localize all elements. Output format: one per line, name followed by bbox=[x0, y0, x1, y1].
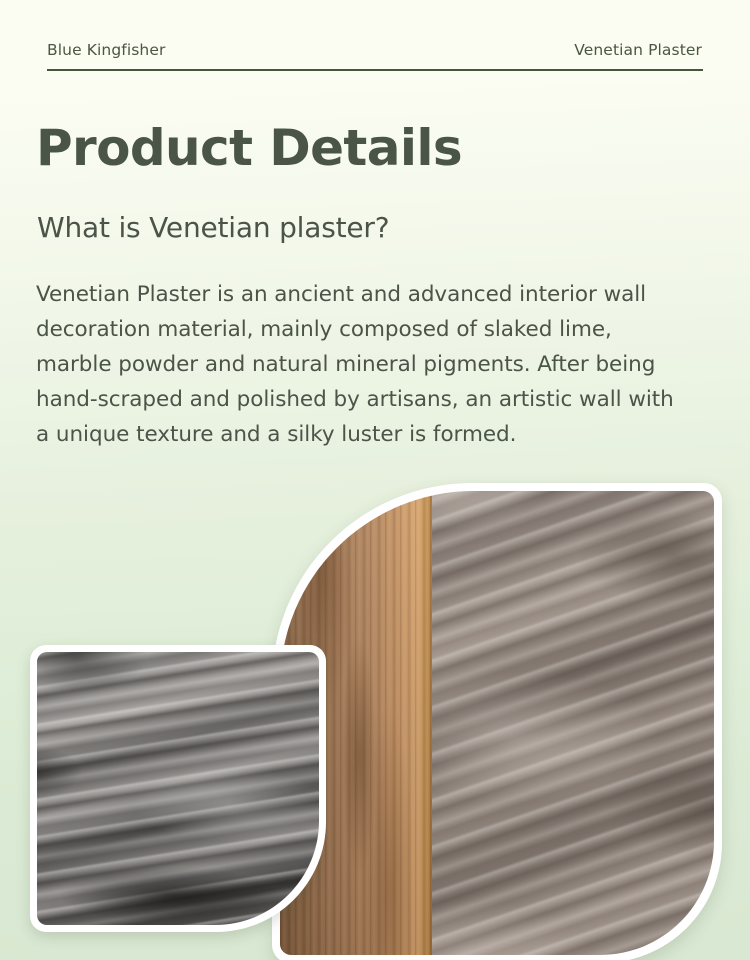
page-header: Blue Kingfisher Venetian Plaster bbox=[47, 36, 703, 71]
product-name: Venetian Plaster bbox=[574, 36, 703, 60]
description-paragraph: Venetian Plaster is an ancient and advan… bbox=[36, 277, 686, 452]
brand-name: Blue Kingfisher bbox=[47, 36, 165, 60]
warm-marble-texture bbox=[432, 491, 714, 955]
grey-marble-texture bbox=[37, 652, 319, 925]
section-subtitle: What is Venetian plaster? bbox=[37, 211, 389, 245]
large-product-image bbox=[280, 491, 714, 955]
large-product-image-card bbox=[272, 483, 722, 960]
small-product-image-card bbox=[30, 645, 326, 932]
product-details-page: Blue Kingfisher Venetian Plaster Product… bbox=[0, 0, 750, 960]
small-product-image bbox=[37, 652, 319, 925]
image-gallery bbox=[0, 470, 750, 960]
page-title: Product Details bbox=[36, 122, 462, 175]
